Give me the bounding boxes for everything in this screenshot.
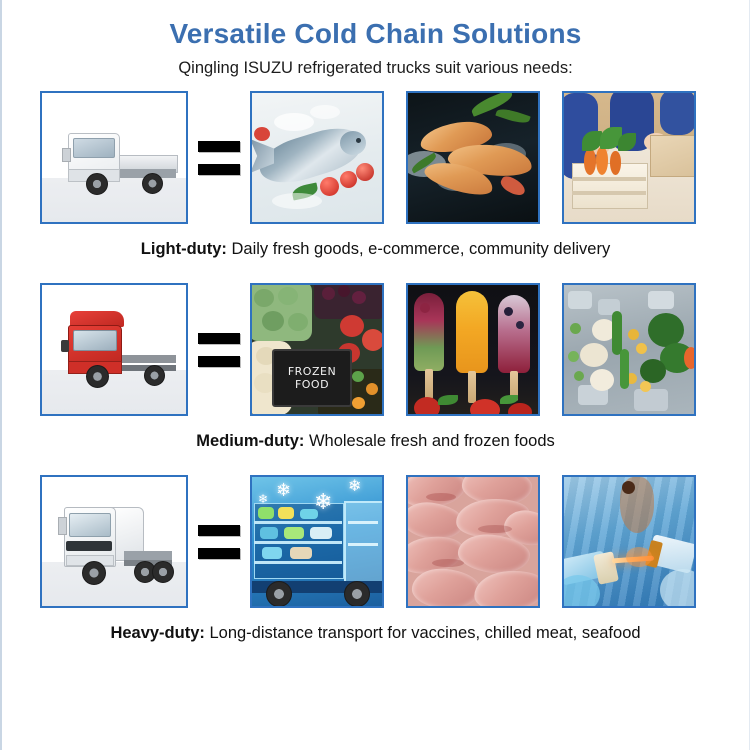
equals-bar-bottom [198, 356, 240, 367]
snowflake-icon: ❄ [258, 493, 268, 505]
prawns-on-ice-photo [408, 93, 538, 222]
infographic-page: Versatile Cold Chain Solutions Qingling … [0, 0, 750, 750]
light-duty-truck-image [42, 93, 186, 222]
frozen-food-sign-line2: FOOD [295, 378, 329, 391]
page-title: Versatile Cold Chain Solutions [2, 0, 749, 51]
frozen-food-sign-line1: FROZEN [288, 365, 336, 378]
carrot-crate-panel[interactable] [562, 91, 696, 224]
equals-bar-bottom [198, 164, 240, 175]
equals-bar-bottom [198, 548, 240, 559]
light-duty-truck-panel[interactable] [40, 91, 188, 224]
vaccine-syringe-photo [564, 477, 694, 606]
carrot-crate-packing-photo [564, 93, 694, 222]
medium-duty-truck-panel[interactable] [40, 283, 188, 416]
refrigerated-truck-interior-photo: ❄ ❄ ❄ ❄ [252, 477, 382, 606]
caption-label-medium-duty: Medium-duty: [196, 432, 304, 450]
equals-sign-row-3 [188, 525, 250, 559]
fruit-popsicles-photo [408, 285, 538, 414]
prawns-on-ice-panel[interactable] [406, 91, 540, 224]
caption-label-heavy-duty: Heavy-duty: [110, 624, 204, 642]
row-heavy-duty: ❄ ❄ ❄ ❄ [2, 475, 749, 655]
chilled-meat-photo [408, 477, 538, 606]
equals-sign-row-1 [188, 141, 250, 175]
heavy-duty-truck-panel[interactable] [40, 475, 188, 608]
medium-duty-truck-image [42, 285, 186, 414]
caption-text-medium-duty: Wholesale fresh and frozen foods [304, 432, 554, 450]
refrigerated-truck-interior-panel[interactable]: ❄ ❄ ❄ ❄ [250, 475, 384, 608]
snowflake-icon: ❄ [348, 479, 361, 495]
caption-medium-duty: Medium-duty: Wholesale fresh and frozen … [2, 430, 749, 452]
equals-sign-row-2 [188, 333, 250, 367]
equals-bar-top [198, 525, 240, 536]
chilled-meat-panel[interactable] [406, 475, 540, 608]
snowflake-icon: ❄ [276, 481, 291, 499]
snowflake-icon: ❄ [314, 491, 332, 513]
frozen-vegetables-panel[interactable] [562, 283, 696, 416]
frozen-vegetables-ice-photo [564, 285, 694, 414]
row-light-duty: Light-duty: Daily fresh goods, e-commerc… [2, 91, 749, 271]
row-medium-duty: FROZEN FOOD [2, 283, 749, 463]
equals-bar-top [198, 333, 240, 344]
caption-light-duty: Light-duty: Daily fresh goods, e-commerc… [2, 238, 749, 260]
equals-bar-top [198, 141, 240, 152]
caption-text-light-duty: Daily fresh goods, e-commerce, community… [227, 240, 610, 258]
page-subtitle: Qingling ISUZU refrigerated trucks suit … [2, 51, 749, 79]
salmon-splash-panel[interactable] [250, 91, 384, 224]
fruit-popsicles-panel[interactable] [406, 283, 540, 416]
frozen-food-board-panel[interactable]: FROZEN FOOD [250, 283, 384, 416]
caption-text-heavy-duty: Long-distance transport for vaccines, ch… [205, 624, 641, 642]
frozen-food-board-photo: FROZEN FOOD [252, 285, 382, 414]
salmon-splash-photo [252, 93, 382, 222]
vaccine-syringe-panel[interactable] [562, 475, 696, 608]
frozen-food-sign: FROZEN FOOD [272, 349, 352, 407]
caption-label-light-duty: Light-duty: [141, 240, 227, 258]
caption-heavy-duty: Heavy-duty: Long-distance transport for … [2, 622, 749, 644]
heavy-duty-truck-image [42, 477, 186, 606]
